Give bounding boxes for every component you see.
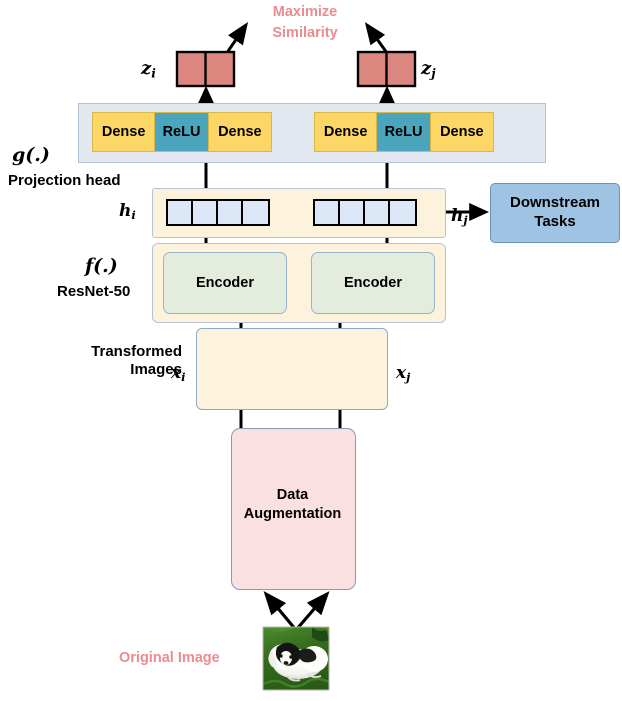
x-right-label: xj: [396, 363, 410, 384]
projection-head-left-blocks: Dense ReLU Dense: [92, 112, 272, 152]
h-right-label: hj: [451, 206, 468, 227]
h-right-cell-3: [365, 201, 390, 224]
h-right-cell-4: [390, 201, 415, 224]
dense-block-right-1: Dense: [315, 113, 377, 151]
dense-block-right-2: Dense: [431, 113, 493, 151]
h-left-label: hi: [119, 201, 136, 222]
projection-head-right-blocks: Dense ReLU Dense: [314, 112, 494, 152]
relu-block-left: ReLU: [155, 113, 208, 151]
data-augmentation-label: Data Augmentation: [231, 486, 354, 524]
h-left-cell-4: [243, 201, 268, 224]
h-left-cell-2: [193, 201, 218, 224]
dense-block-left-1: Dense: [93, 113, 155, 151]
z-right-vector: [358, 52, 415, 86]
projection-head-function-label: g(.): [12, 144, 50, 166]
h-right-cell-2: [340, 201, 365, 224]
original-image: [263, 626, 329, 690]
encoder-right-box: Encoder: [311, 252, 435, 314]
dense-block-left-2: Dense: [209, 113, 271, 151]
h-left-vector: [166, 199, 270, 226]
h-left-cell-1: [168, 201, 193, 224]
z-left-vector: [177, 52, 234, 86]
encoder-name-label: ResNet-50: [57, 283, 130, 301]
encoder-function-label: f(.): [85, 255, 118, 277]
h-right-vector: [313, 199, 417, 226]
z-left-label: zi: [141, 58, 156, 80]
simclr-architecture-diagram: Maximize Similarity zi zj Dense ReLU Den…: [0, 0, 622, 701]
original-image-label: Original Image: [119, 650, 220, 666]
downstream-tasks-box[interactable]: Downstream Tasks: [490, 183, 620, 243]
projection-head-name-label: Projection head: [8, 172, 121, 190]
maximize-similarity-label: Maximize Similarity: [245, 2, 365, 44]
h-left-cell-3: [218, 201, 243, 224]
z-right-label: zj: [421, 58, 436, 80]
h-right-cell-1: [315, 201, 340, 224]
transformed-images-label: Transformed Images: [47, 343, 182, 378]
encoder-left-box: Encoder: [163, 252, 287, 314]
x-left-label: xi: [171, 363, 186, 384]
relu-block-right: ReLU: [377, 113, 430, 151]
transformed-images-band: [196, 328, 388, 410]
